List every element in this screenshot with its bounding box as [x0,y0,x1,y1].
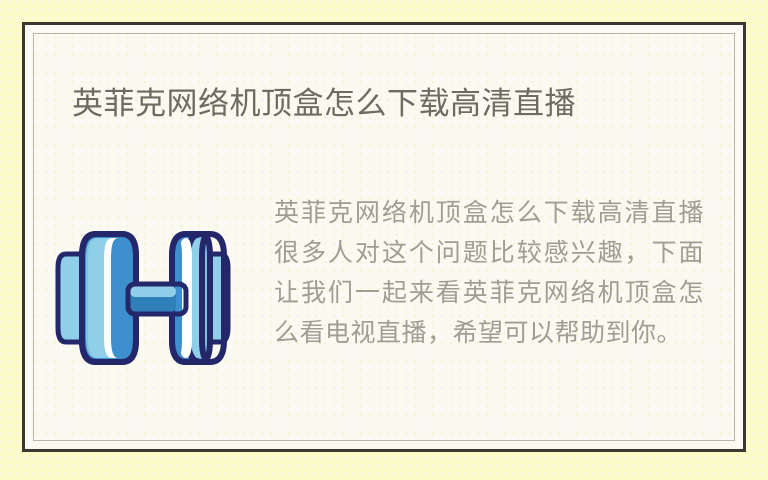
illustration-container [34,194,274,381]
dumbbell-icon [52,216,257,381]
article-content-row: 英菲克网络机顶盒怎么下载高清直播很多人对这个问题比较感兴趣，下面让我们一起来看英… [34,194,734,381]
body-text-container: 英菲克网络机顶盒怎么下载高清直播很多人对这个问题比较感兴趣，下面让我们一起来看英… [274,194,734,354]
article-body: 英菲克网络机顶盒怎么下载高清直播很多人对这个问题比较感兴趣，下面让我们一起来看英… [274,194,704,354]
article-card: 英菲克网络机顶盒怎么下载高清直播 [22,22,746,452]
article-card-inner: 英菲克网络机顶盒怎么下载高清直播 [33,33,735,441]
page-title: 英菲克网络机顶盒怎么下载高清直播 [72,83,672,125]
